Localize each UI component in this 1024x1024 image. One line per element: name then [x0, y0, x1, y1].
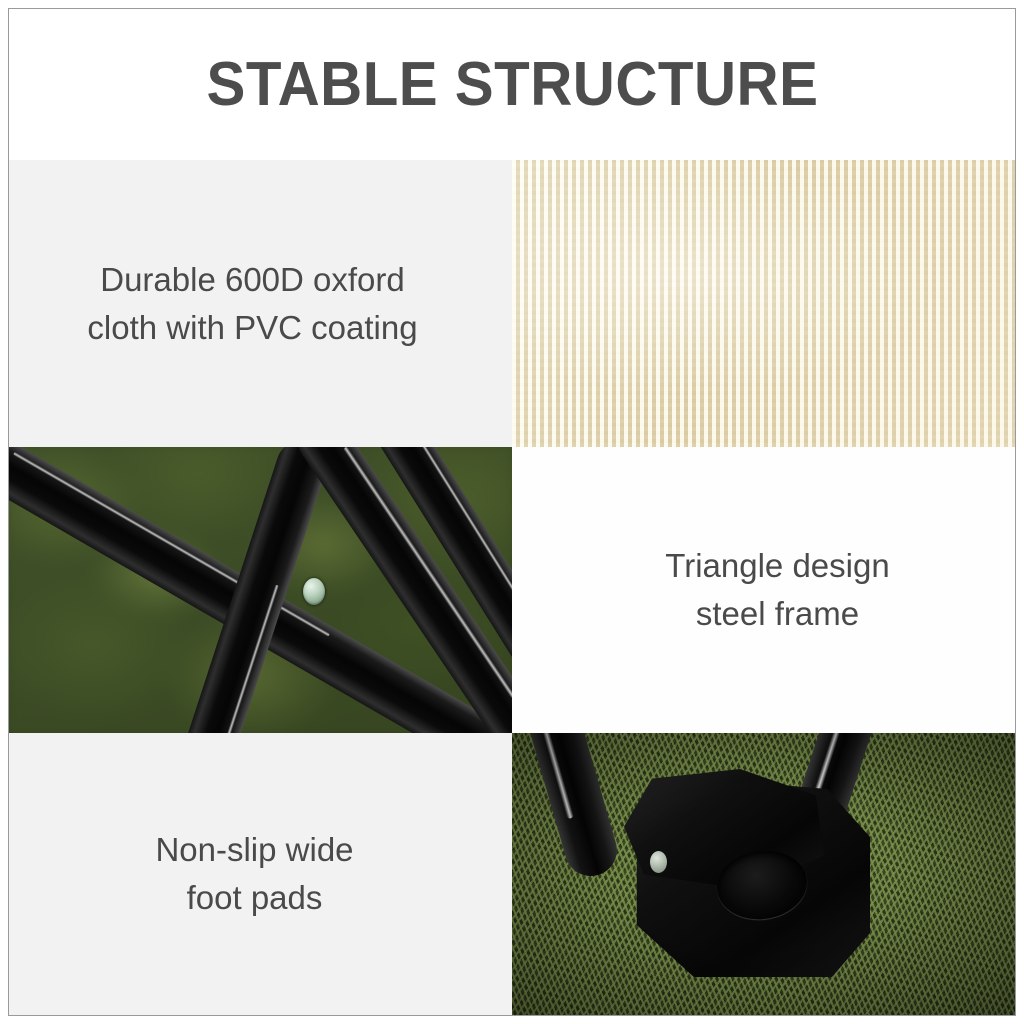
feature-text-fabric-line1: Durable 600D oxford: [100, 261, 405, 298]
feature-text-frame: Triangle design steel frame: [512, 447, 1015, 733]
feature-image-steel-frame: [9, 447, 512, 733]
turf-vignette-overlay: [512, 733, 1015, 1015]
header-band: STABLE STRUCTURE: [9, 9, 1015, 160]
feature-text-fabric-body: Durable 600D oxford cloth with PVC coati…: [87, 256, 417, 352]
feature-text-frame-line2: steel frame: [696, 595, 859, 632]
feature-text-footpad-body: Non-slip wide foot pads: [155, 826, 353, 922]
page-title: STABLE STRUCTURE: [206, 54, 818, 116]
frame-rivet-icon: [303, 578, 325, 605]
feature-image-fabric-swatch: [512, 160, 1015, 447]
feature-image-foot-pad: [512, 733, 1015, 1015]
fabric-sheen-overlay: [512, 160, 1015, 447]
product-feature-infographic: STABLE STRUCTURE Durable 600D oxford clo…: [0, 0, 1024, 1024]
feature-text-fabric-line2: cloth with PVC coating: [87, 309, 417, 346]
feature-text-footpad-line2: foot pads: [187, 879, 323, 916]
feature-text-fabric: Durable 600D oxford cloth with PVC coati…: [9, 160, 512, 447]
feature-text-frame-body: Triangle design steel frame: [665, 542, 889, 638]
feature-text-frame-line1: Triangle design: [665, 547, 889, 584]
feature-text-footpad: Non-slip wide foot pads: [9, 733, 512, 1015]
feature-text-footpad-line1: Non-slip wide: [155, 831, 353, 868]
